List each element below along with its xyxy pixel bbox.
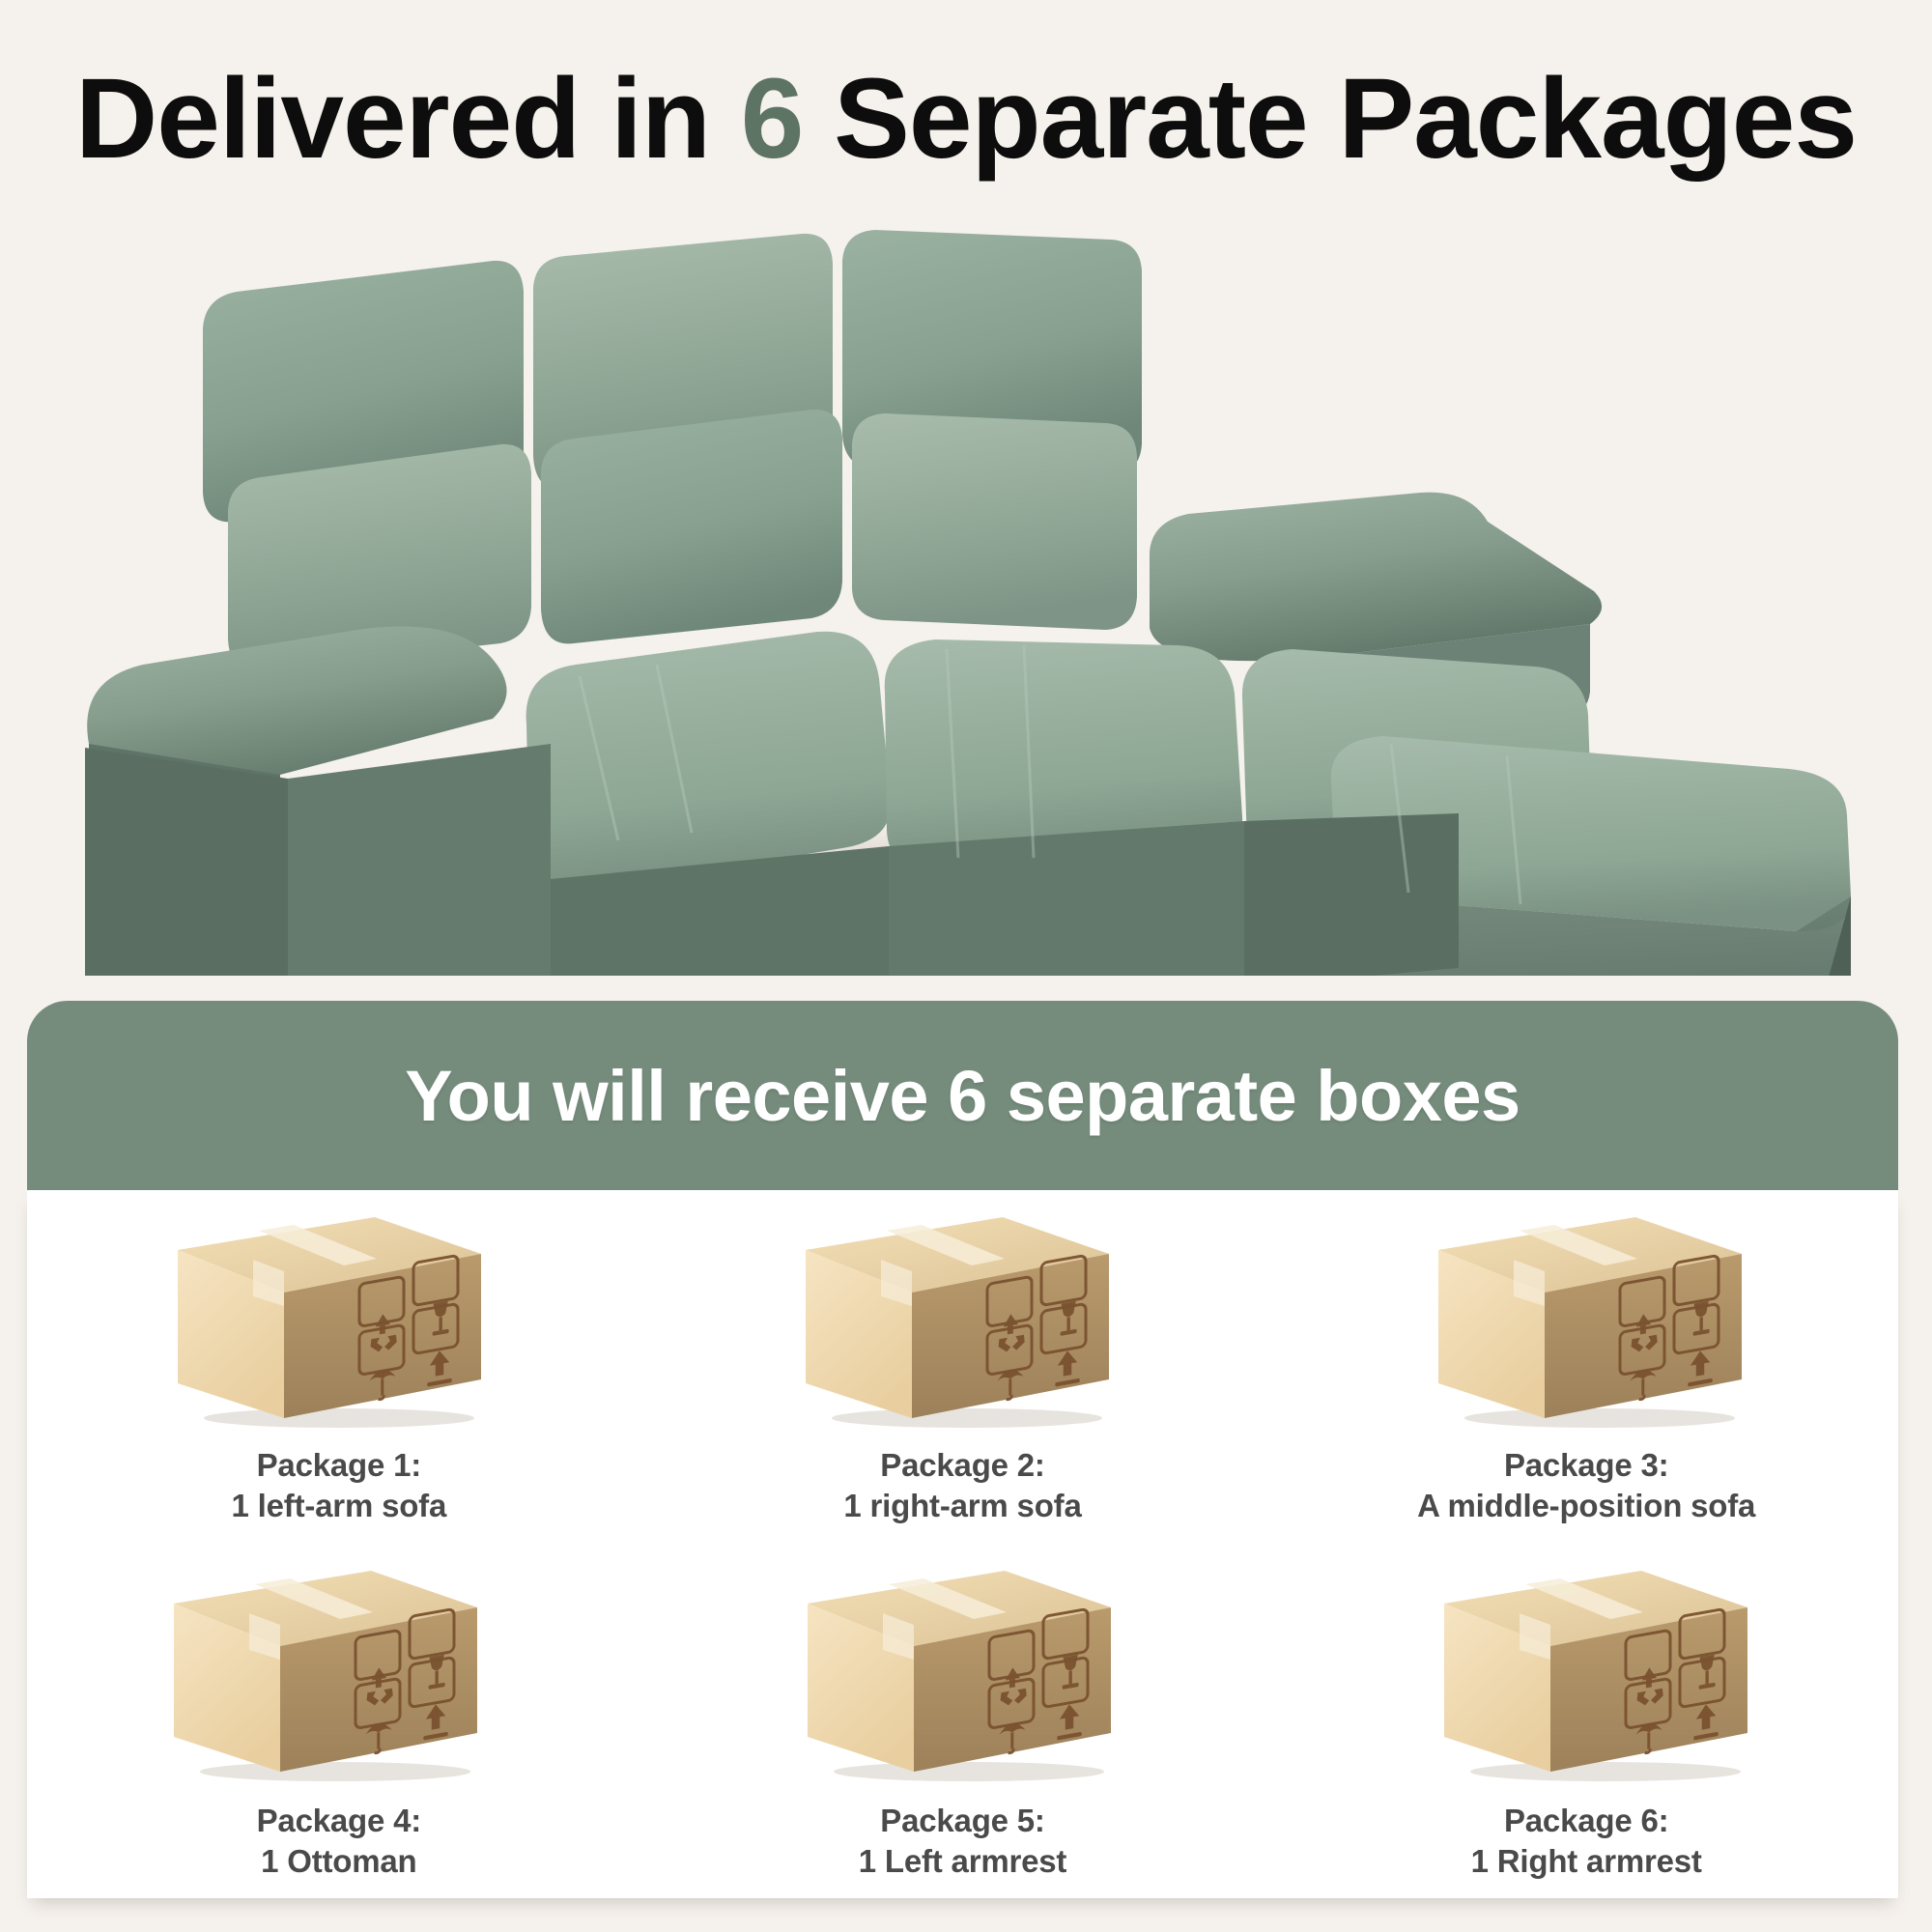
package-title-1: Package 1: <box>27 1445 651 1486</box>
package-caption-4: Package 4: 1 Ottoman <box>27 1801 651 1881</box>
package-contents-2: 1 right-arm sofa <box>651 1486 1275 1526</box>
package-item-6: Package 6: 1 Right armrest <box>1274 1548 1898 1886</box>
headline-after: Separate Packages <box>803 55 1857 183</box>
packages-panel: Package 1: 1 left-arm sofa <box>27 1190 1898 1898</box>
hero-product-image <box>0 184 1932 995</box>
page-title: Delivered in 6 Separate Packages <box>0 60 1932 180</box>
package-title-2: Package 2: <box>651 1445 1275 1486</box>
package-caption-1: Package 1: 1 left-arm sofa <box>27 1445 651 1525</box>
sofa-svg <box>39 203 1913 976</box>
package-caption-5: Package 5: 1 Left armrest <box>651 1801 1275 1881</box>
carton-icon <box>170 1204 489 1428</box>
package-title-4: Package 4: <box>27 1801 651 1841</box>
package-item-3: Package 3: A middle-position sofa <box>1274 1204 1898 1532</box>
package-contents-4: 1 Ottoman <box>27 1841 651 1882</box>
package-contents-6: 1 Right armrest <box>1274 1841 1898 1882</box>
carton-5 <box>800 1557 1119 1781</box>
package-caption-2: Package 2: 1 right-arm sofa <box>651 1445 1275 1525</box>
infographic-page: Delivered in 6 Separate Packages <box>0 0 1932 1932</box>
packages-row-bottom: Package 4: 1 Ottoman <box>27 1548 1898 1886</box>
package-item-2: Package 2: 1 right-arm sofa <box>651 1204 1275 1532</box>
package-caption-3: Package 3: A middle-position sofa <box>1274 1445 1898 1525</box>
package-title-5: Package 5: <box>651 1801 1275 1841</box>
package-item-1: Package 1: 1 left-arm sofa <box>27 1204 651 1532</box>
package-contents-5: 1 Left armrest <box>651 1841 1275 1882</box>
carton-2 <box>798 1204 1117 1428</box>
package-contents-3: A middle-position sofa <box>1274 1486 1898 1526</box>
carton-3 <box>1431 1204 1749 1428</box>
package-title-6: Package 6: <box>1274 1801 1898 1841</box>
carton-icon <box>166 1557 485 1781</box>
packages-banner: You will receive 6 separate boxes <box>27 1001 1898 1190</box>
sofa-illustration <box>39 203 1913 976</box>
package-title-3: Package 3: <box>1274 1445 1898 1486</box>
package-item-5: Package 5: 1 Left armrest <box>651 1548 1275 1886</box>
carton-icon <box>1431 1204 1749 1428</box>
carton-6 <box>1436 1557 1755 1781</box>
carton-icon <box>798 1204 1117 1428</box>
carton-icon <box>800 1557 1119 1781</box>
carton-1 <box>170 1204 489 1428</box>
carton-4 <box>166 1557 485 1781</box>
package-item-4: Package 4: 1 Ottoman <box>27 1548 651 1886</box>
packages-banner-text: You will receive 6 separate boxes <box>405 1055 1520 1137</box>
package-contents-1: 1 left-arm sofa <box>27 1486 651 1526</box>
carton-icon <box>1436 1557 1755 1781</box>
packages-row-top: Package 1: 1 left-arm sofa <box>27 1204 1898 1532</box>
headline-count: 6 <box>741 55 804 183</box>
package-caption-6: Package 6: 1 Right armrest <box>1274 1801 1898 1881</box>
headline-before: Delivered in <box>75 55 741 183</box>
